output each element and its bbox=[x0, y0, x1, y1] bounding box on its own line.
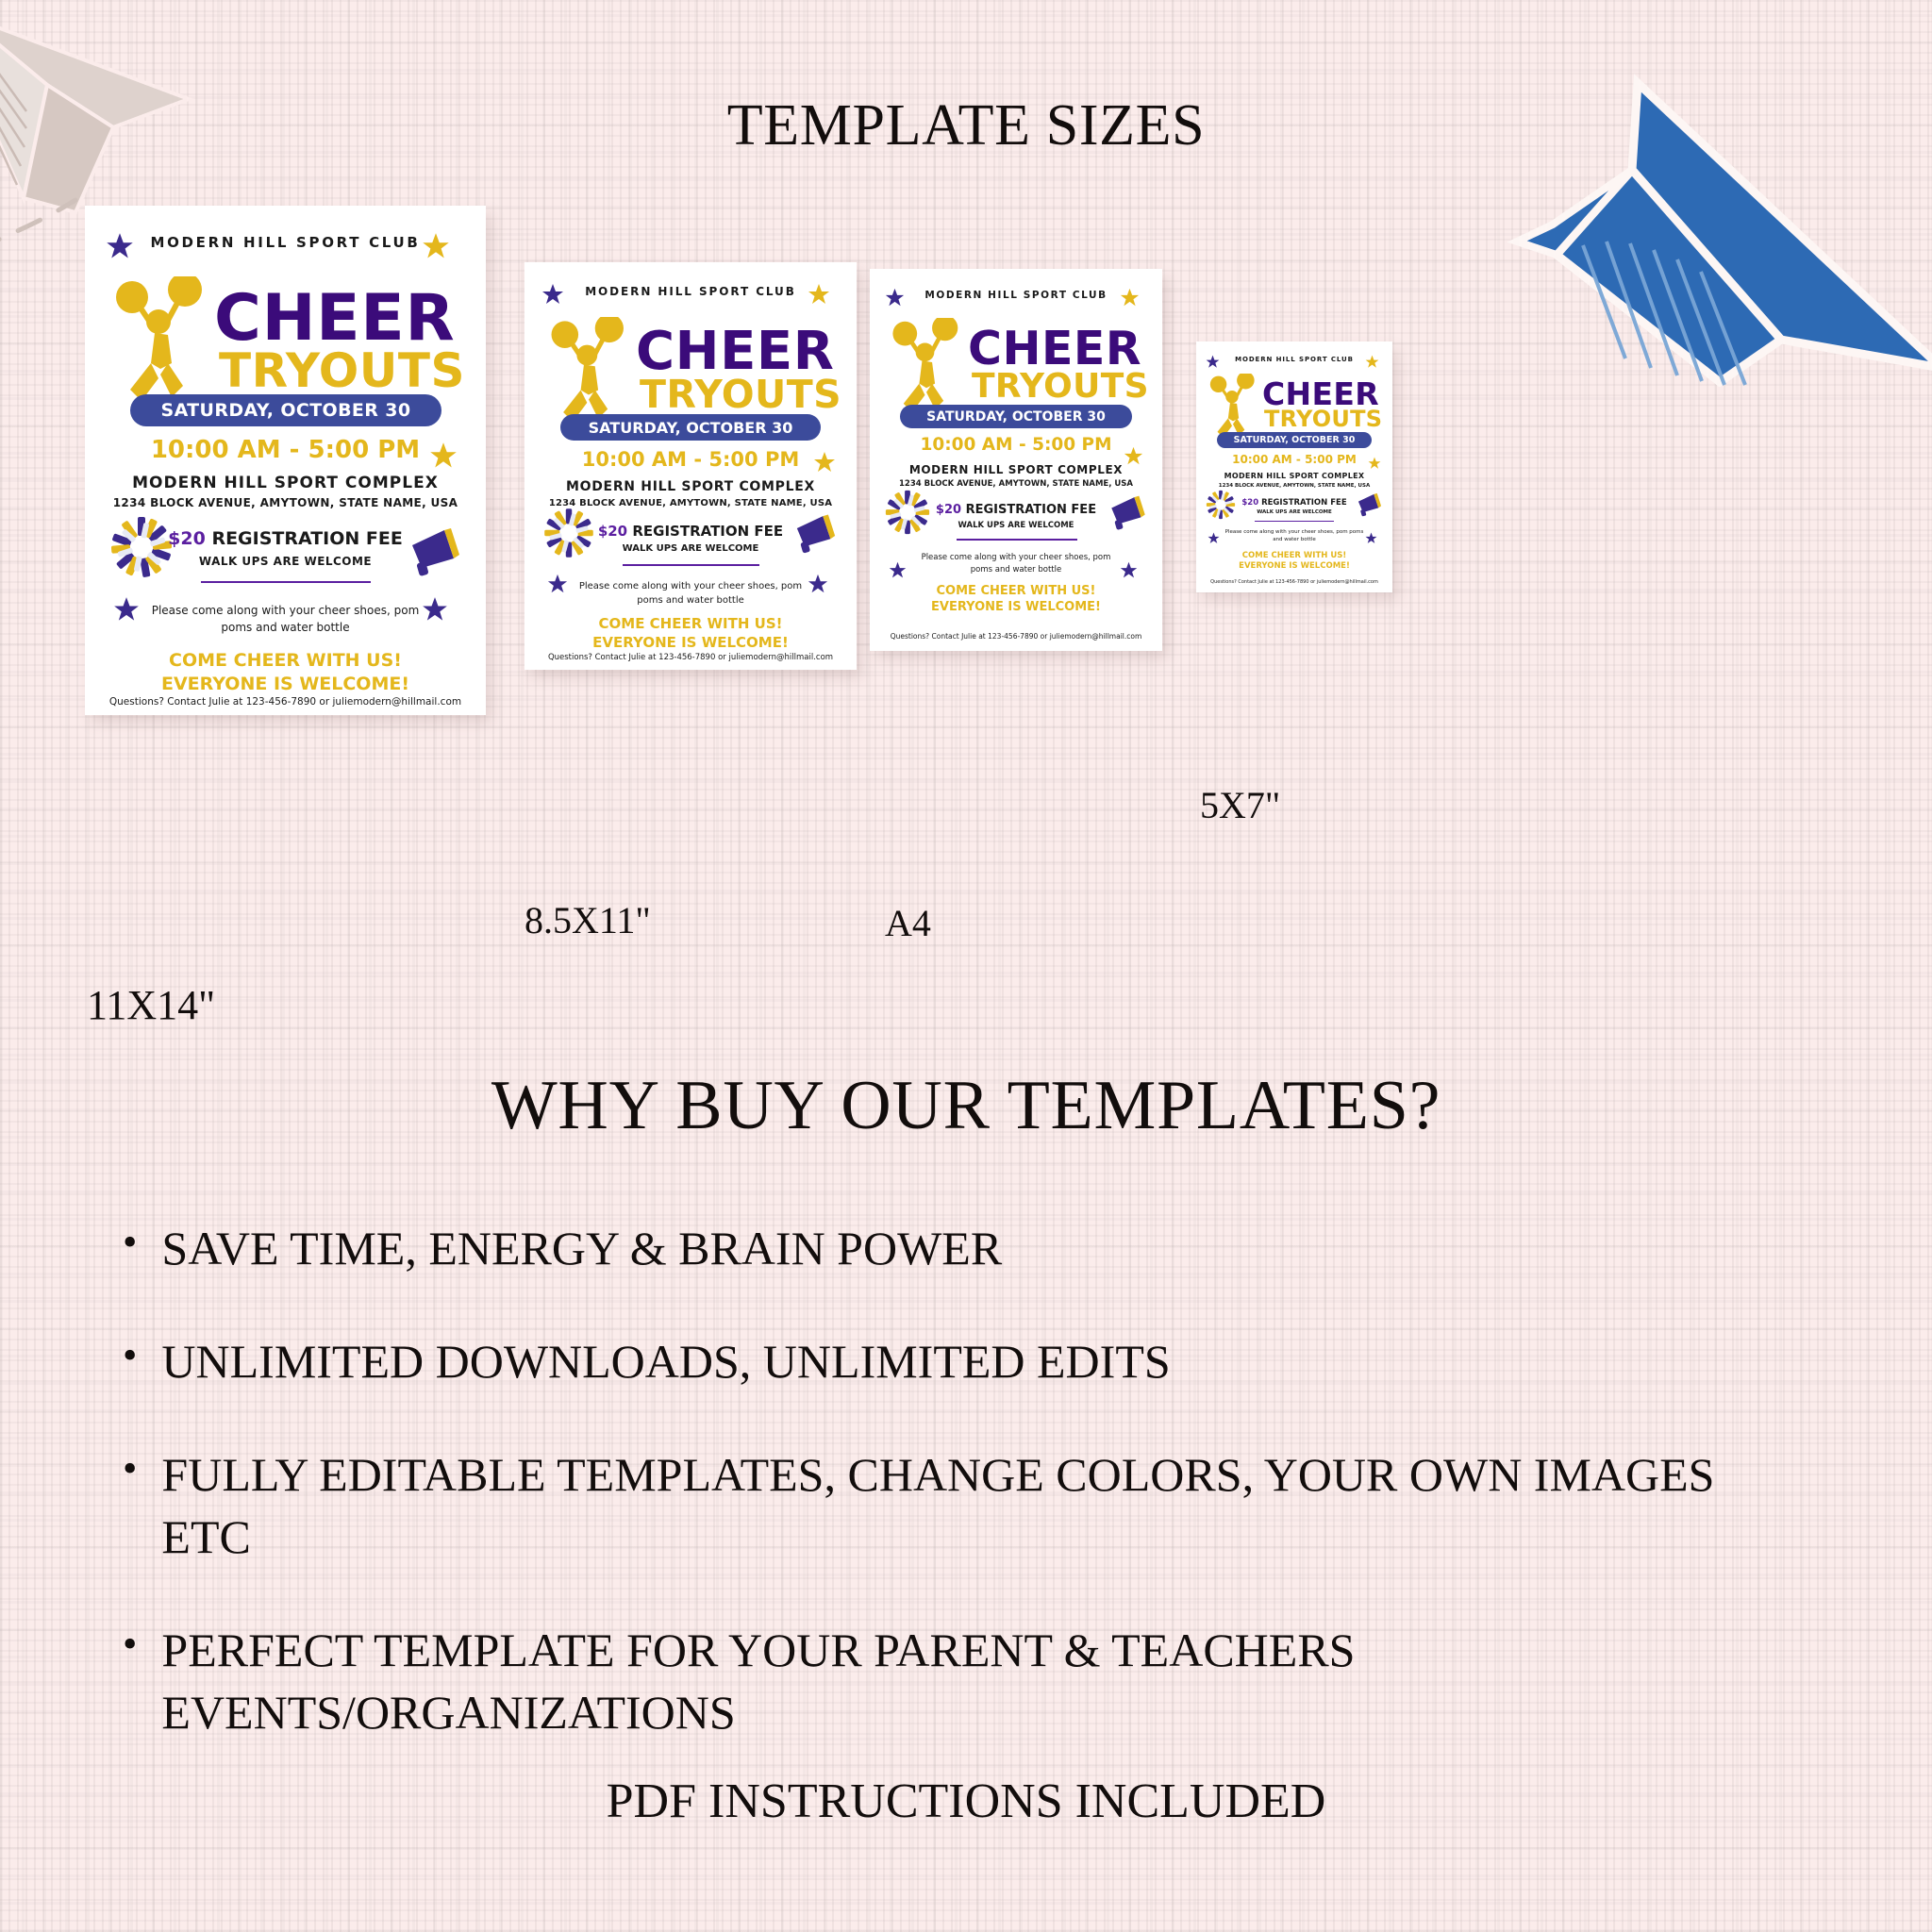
flyer-preview-5x7[interactable]: MODERN HILL SPORT CLUB CHEER TRYOUTS SAT… bbox=[1196, 341, 1392, 592]
star-icon bbox=[113, 596, 140, 623]
pdf-instructions-note: PDF INSTRUCTIONS INCLUDED bbox=[0, 1774, 1932, 1829]
flyer-fee-amount: $20 bbox=[936, 503, 961, 517]
cheerleader-icon bbox=[113, 276, 208, 408]
flyer-note: Please come along with your cheer shoes,… bbox=[142, 602, 429, 636]
flyer-venue: MODERN HILL SPORT COMPLEX bbox=[525, 479, 857, 494]
flyer-date-badge: SATURDAY, OCTOBER 30 bbox=[130, 394, 441, 426]
flyer-date-badge: SATURDAY, OCTOBER 30 bbox=[560, 414, 821, 441]
flyer-cta: COME CHEER WITH US! EVERYONE IS WELCOME! bbox=[85, 649, 486, 695]
divider-rule bbox=[1255, 521, 1334, 522]
bullet-icon: • bbox=[123, 1443, 137, 1494]
section-title-why-buy: WHY BUY OUR TEMPLATES? bbox=[0, 1066, 1932, 1146]
flyer-time: 10:00 AM - 5:00 PM bbox=[1196, 453, 1392, 466]
flyer-cta: COME CHEER WITH US! EVERYONE IS WELCOME! bbox=[1196, 551, 1392, 572]
flyer-fee-label: REGISTRATION FEE bbox=[632, 523, 783, 540]
star-icon bbox=[1365, 532, 1377, 544]
cheerleader-icon bbox=[549, 317, 628, 428]
page-title-template-sizes: TEMPLATE SIZES bbox=[0, 92, 1932, 159]
flyer-contact: Questions? Contact Julie at 123-456-7890… bbox=[1196, 579, 1392, 585]
flyer-fee-amount: $20 bbox=[1241, 498, 1258, 508]
flyer-club-name: MODERN HILL SPORT CLUB bbox=[85, 234, 486, 251]
benefit-text: SAVE TIME, ENERGY & BRAIN POWER bbox=[161, 1217, 1002, 1279]
flyer-time: 10:00 AM - 5:00 PM bbox=[525, 448, 857, 471]
flyer-contact: Questions? Contact Julie at 123-456-7890… bbox=[525, 653, 857, 662]
flyer-venue: MODERN HILL SPORT COMPLEX bbox=[870, 463, 1162, 476]
bullet-icon: • bbox=[123, 1619, 137, 1670]
flyer-preview-11x14[interactable]: MODERN HILL SPORT CLUB CHEER TRYOUTS SAT… bbox=[85, 206, 486, 715]
list-item: • UNLIMITED DOWNLOADS, UNLIMITED EDITS bbox=[123, 1330, 1811, 1392]
size-caption-a4: A4 bbox=[885, 901, 931, 945]
benefit-text: PERFECT TEMPLATE FOR YOUR PARENT & TEACH… bbox=[161, 1619, 1811, 1743]
flyer-walkups: WALK UPS ARE WELCOME bbox=[85, 555, 486, 568]
flyer-title-tryouts: TRYOUTS bbox=[972, 371, 1149, 403]
flyer-date-badge: SATURDAY, OCTOBER 30 bbox=[1217, 432, 1372, 448]
flyer-cta-line2: EVERYONE IS WELCOME! bbox=[1196, 561, 1392, 572]
list-item: • FULLY EDITABLE TEMPLATES, CHANGE COLOR… bbox=[123, 1443, 1811, 1568]
flyer-title-tryouts: TRYOUTS bbox=[1264, 408, 1382, 430]
benefits-list: • SAVE TIME, ENERGY & BRAIN POWER • UNLI… bbox=[123, 1217, 1811, 1794]
flyer-fee: $20 REGISTRATION FEE bbox=[870, 503, 1162, 517]
flyer-cta-line2: EVERYONE IS WELCOME! bbox=[525, 634, 857, 653]
flyer-note: Please come along with your cheer shoes,… bbox=[570, 579, 811, 608]
benefit-text: FULLY EDITABLE TEMPLATES, CHANGE COLORS,… bbox=[161, 1443, 1811, 1568]
flyer-preview-a4[interactable]: MODERN HILL SPORT CLUB CHEER TRYOUTS SAT… bbox=[870, 269, 1162, 651]
star-icon bbox=[889, 561, 907, 579]
size-caption-5x7: 5X7" bbox=[1200, 783, 1280, 827]
flyer-cta-line1: COME CHEER WITH US! bbox=[85, 649, 486, 673]
flyer-preview-8point5x11[interactable]: MODERN HILL SPORT CLUB CHEER TRYOUTS SAT… bbox=[525, 262, 857, 670]
flyer-cta-line2: EVERYONE IS WELCOME! bbox=[85, 673, 486, 696]
flyer-venue: MODERN HILL SPORT COMPLEX bbox=[1196, 472, 1392, 480]
flyer-walkups: WALK UPS ARE WELCOME bbox=[525, 543, 857, 554]
star-icon bbox=[1207, 532, 1220, 544]
flyer-cta-line1: COME CHEER WITH US! bbox=[525, 615, 857, 634]
bullet-icon: • bbox=[123, 1217, 137, 1268]
flyer-fee-amount: $20 bbox=[598, 523, 627, 540]
divider-rule bbox=[201, 581, 371, 583]
flyer-fee: $20 REGISTRATION FEE bbox=[85, 528, 486, 549]
divider-rule bbox=[623, 564, 759, 566]
cheerleader-icon bbox=[891, 318, 962, 418]
flyer-contact: Questions? Contact Julie at 123-456-7890… bbox=[85, 696, 486, 708]
bullet-icon: • bbox=[123, 1330, 137, 1381]
flyer-title-cheer: CHEER bbox=[636, 326, 834, 376]
flyer-title-tryouts: TRYOUTS bbox=[640, 376, 841, 413]
flyer-venue: MODERN HILL SPORT COMPLEX bbox=[85, 474, 486, 492]
flyer-cta: COME CHEER WITH US! EVERYONE IS WELCOME! bbox=[525, 615, 857, 652]
flyer-time: 10:00 AM - 5:00 PM bbox=[870, 435, 1162, 455]
list-item: • SAVE TIME, ENERGY & BRAIN POWER bbox=[123, 1217, 1811, 1279]
flyer-title-cheer: CHEER bbox=[214, 289, 455, 350]
flyer-fee-amount: $20 bbox=[168, 528, 206, 549]
star-icon bbox=[547, 574, 568, 594]
flyer-club-name: MODERN HILL SPORT CLUB bbox=[525, 285, 857, 298]
flyer-club-name: MODERN HILL SPORT CLUB bbox=[870, 290, 1162, 301]
flyer-walkups: WALK UPS ARE WELCOME bbox=[1196, 509, 1392, 515]
flyer-walkups: WALK UPS ARE WELCOME bbox=[870, 521, 1162, 530]
flyer-date-badge: SATURDAY, OCTOBER 30 bbox=[900, 405, 1132, 428]
flyer-note: Please come along with your cheer shoes,… bbox=[909, 552, 1123, 576]
flyer-title-tryouts: TRYOUTS bbox=[219, 349, 465, 394]
flyer-fee-label: REGISTRATION FEE bbox=[211, 528, 402, 549]
flyer-contact: Questions? Contact Julie at 123-456-7890… bbox=[870, 632, 1162, 641]
flyer-time: 10:00 AM - 5:00 PM bbox=[85, 436, 486, 464]
flyer-fee: $20 REGISTRATION FEE bbox=[525, 523, 857, 540]
flyer-club-name: MODERN HILL SPORT CLUB bbox=[1196, 356, 1392, 363]
flyer-cta: COME CHEER WITH US! EVERYONE IS WELCOME! bbox=[870, 584, 1162, 616]
benefit-text: UNLIMITED DOWNLOADS, UNLIMITED EDITS bbox=[161, 1330, 1170, 1392]
divider-rule bbox=[957, 539, 1077, 541]
size-caption-11x14: 11X14" bbox=[87, 981, 215, 1029]
list-item: • PERFECT TEMPLATE FOR YOUR PARENT & TEA… bbox=[123, 1619, 1811, 1743]
flyer-fee-label: REGISTRATION FEE bbox=[1261, 498, 1347, 508]
flyer-title-cheer: CHEER bbox=[968, 327, 1141, 372]
flyer-cta-line2: EVERYONE IS WELCOME! bbox=[870, 600, 1162, 616]
size-caption-8point5x11: 8.5X11" bbox=[525, 898, 651, 942]
flyer-title-cheer: CHEER bbox=[1262, 379, 1379, 408]
flyer-cta-line1: COME CHEER WITH US! bbox=[1196, 551, 1392, 561]
flyer-address: 1234 BLOCK AVENUE, AMYTOWN, STATE NAME, … bbox=[85, 496, 486, 509]
flyer-fee-label: REGISTRATION FEE bbox=[966, 503, 1097, 517]
flyer-cta-line1: COME CHEER WITH US! bbox=[870, 584, 1162, 600]
flyer-fee: $20 REGISTRATION FEE bbox=[1196, 498, 1392, 508]
flyer-note: Please come along with your cheer shoes,… bbox=[1223, 528, 1366, 544]
